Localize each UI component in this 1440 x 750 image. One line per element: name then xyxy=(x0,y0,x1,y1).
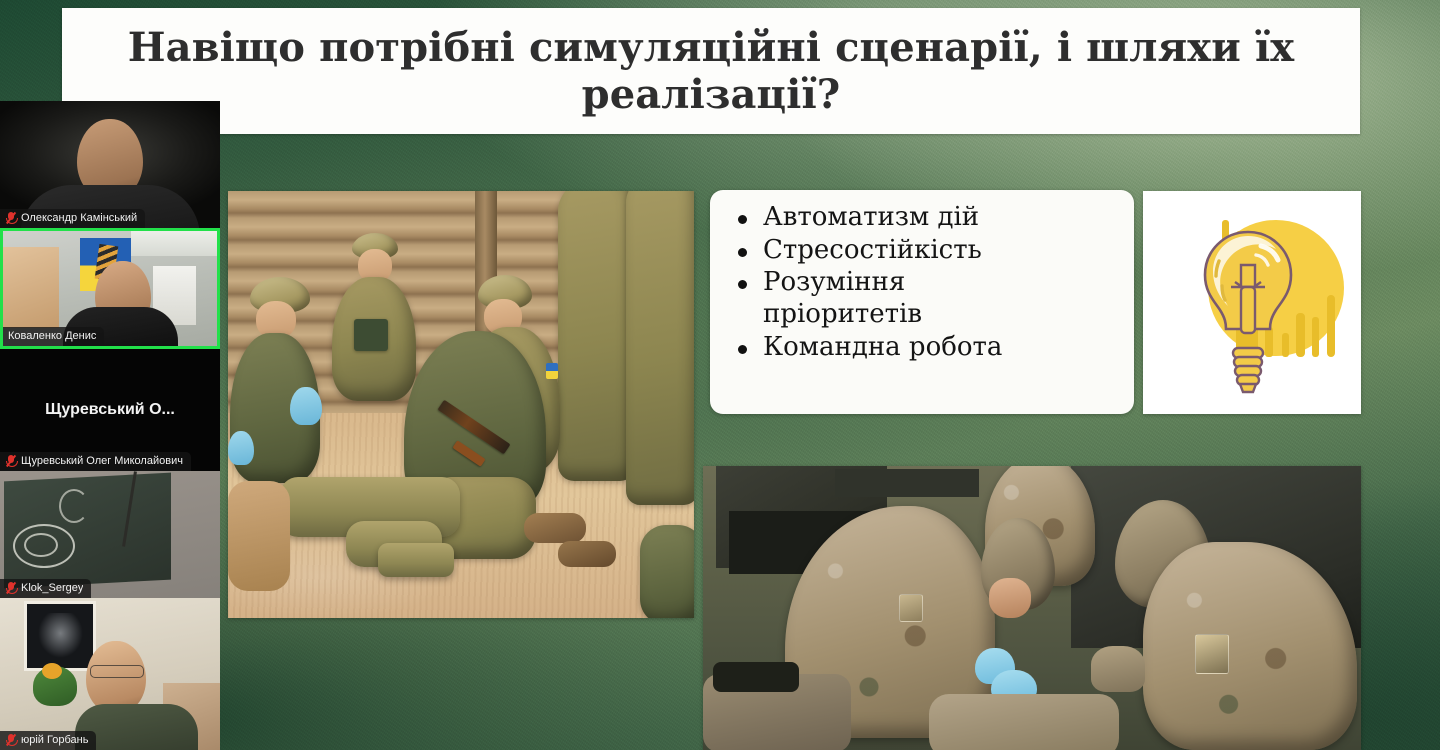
bullet-text: Командна робота xyxy=(763,332,1002,364)
video-call-sidebar[interactable]: Олександр Камінський Коваленко Денис Щур… xyxy=(0,101,220,750)
lightbulb-illustration-card xyxy=(1143,191,1361,414)
mic-muted-icon xyxy=(5,733,16,747)
slide-title-card: Навіщо потрібні симуляційні сценарії, і … xyxy=(62,8,1360,134)
bullet-dot-icon xyxy=(738,215,747,224)
video-tile-3[interactable]: Klok_Sergey xyxy=(0,471,220,598)
list-item: Розуміння пріоритетів xyxy=(738,267,1120,330)
photo-medics-multicam-casualty xyxy=(703,466,1361,750)
list-item: Командна робота xyxy=(738,332,1120,364)
bullets-card: Автоматизм дій Стресостійкість Розуміння… xyxy=(710,190,1134,414)
list-item: Автоматизм дій xyxy=(738,202,1120,234)
participant-name: юрій Горбань xyxy=(21,733,88,747)
video-tile-0[interactable]: Олександр Камінський xyxy=(0,101,220,228)
lightbulb-icon xyxy=(1143,191,1361,414)
screen-root: Навіщо потрібні симуляційні сценарії, і … xyxy=(0,0,1440,750)
participant-name: Олександр Камінський xyxy=(21,211,137,225)
participant-namebar: Олександр Камінський xyxy=(0,209,145,228)
video-tile-1[interactable]: Коваленко Денис xyxy=(0,228,220,349)
bullet-list: Автоматизм дій Стресостійкість Розуміння… xyxy=(710,202,1134,364)
list-item: Стресостійкість xyxy=(738,235,1120,267)
mic-muted-icon xyxy=(5,581,16,595)
bullet-dot-icon xyxy=(738,345,747,354)
participant-namebar: юрій Горбань xyxy=(0,731,96,750)
bullet-text: Стресостійкість xyxy=(763,235,982,267)
mic-muted-icon xyxy=(5,211,16,225)
photo-soldiers-trench-training xyxy=(228,191,694,618)
bullet-dot-icon xyxy=(738,248,747,257)
participant-name: Щуревський Олег Миколайович xyxy=(21,454,183,468)
participant-name: Коваленко Денис xyxy=(8,329,96,343)
participant-namebar: Щуревський Олег Миколайович xyxy=(0,452,191,471)
bullet-dot-icon xyxy=(738,280,747,289)
participant-namebar: Klok_Sergey xyxy=(0,579,91,598)
video-tile-2[interactable]: Щуревський О... Щуревський Олег Миколайо… xyxy=(0,349,220,471)
participant-initials-label: Щуревський О... xyxy=(0,401,220,419)
video-tile-4[interactable]: юрій Горбань xyxy=(0,598,220,750)
participant-name: Klok_Sergey xyxy=(21,581,83,595)
bullet-text: Автоматизм дій xyxy=(763,202,979,234)
page-title: Навіщо потрібні симуляційні сценарії, і … xyxy=(62,24,1360,118)
bullet-text: Розуміння пріоритетів xyxy=(763,267,922,330)
participant-namebar: Коваленко Денис xyxy=(3,327,104,346)
mic-muted-icon xyxy=(5,454,16,468)
